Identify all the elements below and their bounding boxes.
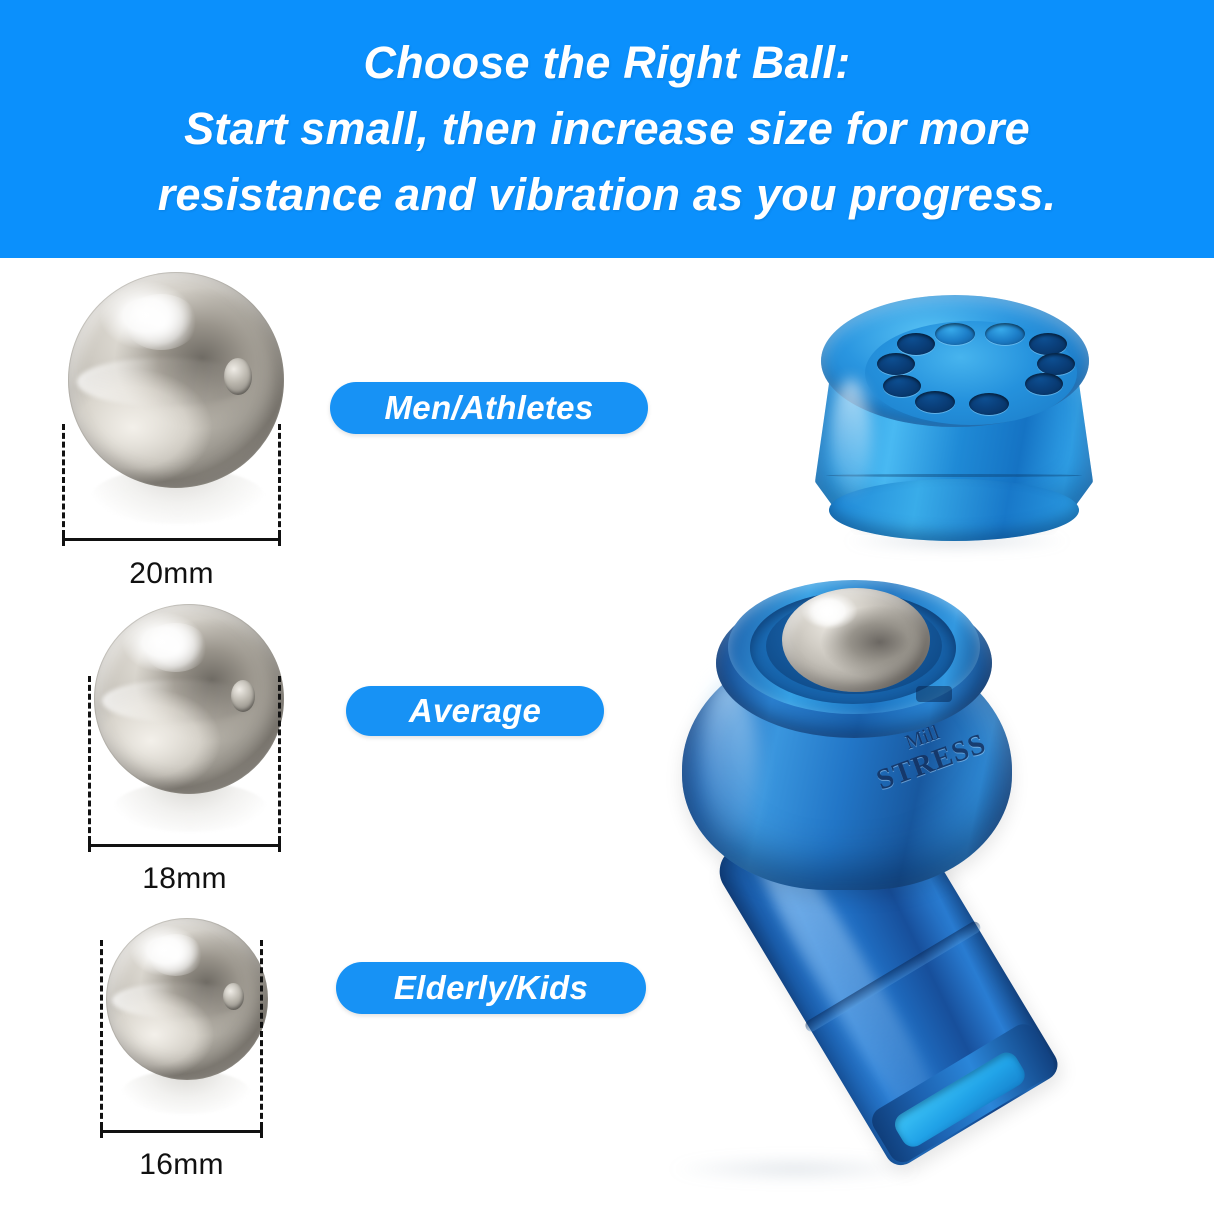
measure-tick-left-16mm [100,1122,103,1138]
size-label-16mm: 16mm [100,1148,263,1182]
header-line-2: Start small, then increase size for more [184,106,1030,152]
measure-tick-right-20mm [278,530,281,546]
cap-vent-plate [865,321,1077,425]
measure-baseline-16mm [100,1130,263,1133]
cap-vent-hole [915,391,955,413]
collar-notch [916,686,952,702]
measure-baseline-20mm [62,538,281,541]
cap-bottom-rim [829,479,1079,541]
ball-size-group-18mm: 18mm [88,604,303,904]
cap-vent-hole [897,333,935,355]
measure-tick-left-20mm [62,530,65,546]
measure-tick-right-18mm [278,836,281,852]
measure-dash-right-18mm [278,676,281,842]
massage-roller-body: Mill STRESS [630,558,1190,1208]
measure-dash-right-16mm [260,940,263,1128]
ball-rim [106,918,268,1080]
cap-vent-hole [1037,353,1075,375]
measure-baseline-18mm [88,844,281,847]
cap-vent-hole [877,353,915,375]
cap-vent-hole [883,375,921,397]
cap-highlight [831,379,871,499]
header-banner: Choose the Right Ball: Start small, then… [0,0,1214,258]
steel-ball-20mm [68,272,284,488]
cap-vent-hole [1025,373,1063,395]
measure-dash-right-20mm [278,424,281,536]
ball-rim [94,604,284,794]
audience-pill-average[interactable]: Average [346,686,604,736]
roller-ball-highlight [806,598,848,626]
cap-vent-hole [1029,333,1067,355]
measure-dash-left-20mm [62,424,65,536]
cap-vent-hole [985,323,1025,345]
size-label-20mm: 20mm [62,557,281,591]
size-label-18mm: 18mm [88,862,281,896]
steel-ball-16mm [106,918,268,1080]
ball-size-group-20mm: 20mm [62,272,302,592]
ball-rim [68,272,284,488]
audience-pill-label-men-athletes: Men/Athletes [385,389,594,427]
measure-tick-right-16mm [260,1122,263,1138]
steel-ball-18mm [94,604,284,794]
header-line-1: Choose the Right Ball: [364,40,851,86]
header-line-3: resistance and vibration as you progress… [158,172,1057,218]
measure-dash-left-18mm [88,676,91,842]
product-photo-area: Mill STRESS [600,258,1214,1214]
steel-roller-ball [782,588,930,692]
audience-pill-label-average: Average [409,692,541,730]
cap-vent-hole [969,393,1009,415]
cap-vent-hole [935,323,975,345]
measure-tick-left-18mm [88,836,91,852]
audience-pill-label-elderly-kids: Elderly/Kids [394,969,588,1007]
ball-size-group-16mm: 16mm [100,918,290,1193]
vented-cap [805,283,1105,548]
measure-dash-left-16mm [100,940,103,1128]
body-drop-shadow [670,1158,920,1180]
